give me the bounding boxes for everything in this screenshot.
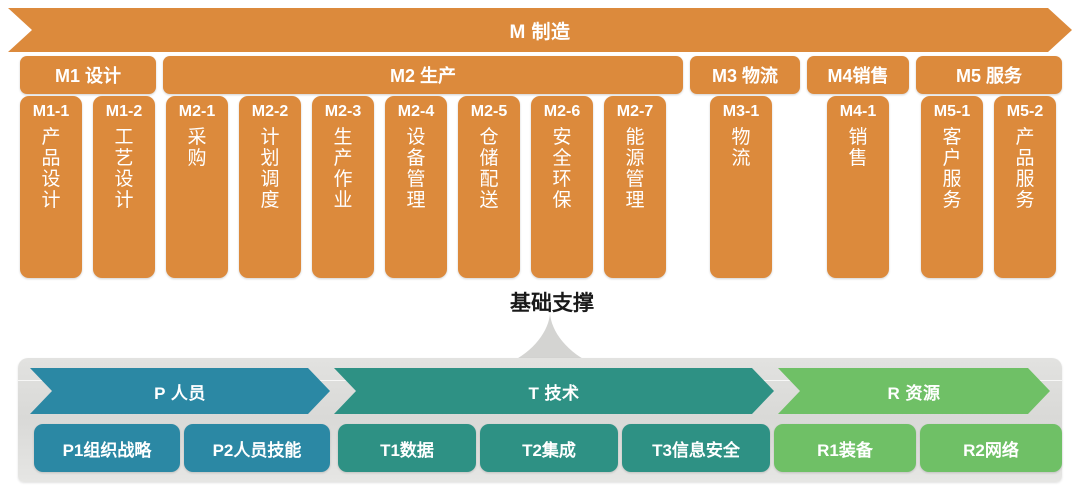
leaf-name: 设备管理 xyxy=(405,127,428,212)
support-leaf-label: P1组织战略 xyxy=(63,436,152,461)
group-header-label: M4销售 xyxy=(827,62,888,88)
group-header-m1[interactable]: M1 设计 xyxy=(20,56,156,94)
leaf-card-m2-7[interactable]: M2-7能源管理 xyxy=(604,96,666,278)
group-header-label: M1 设计 xyxy=(55,62,121,88)
leaf-card-m3-1[interactable]: M3-1物流 xyxy=(710,96,772,278)
leaf-code: M2-3 xyxy=(325,103,361,121)
leaf-name: 物流 xyxy=(730,127,753,170)
support-leaf-label: T1数据 xyxy=(380,436,434,461)
top-banner-label: M 制造 xyxy=(8,8,1072,52)
leaf-name: 计划调度 xyxy=(259,127,282,212)
leaf-name: 仓储配送 xyxy=(478,127,501,212)
leaf-name: 客户服务 xyxy=(941,127,964,212)
support-leaf-3[interactable]: T1数据 xyxy=(338,424,476,472)
leaf-name: 采购 xyxy=(186,127,209,170)
leaf-card-m1-1[interactable]: M1-1产品设计 xyxy=(20,96,82,278)
leaf-name: 销售 xyxy=(847,127,870,170)
group-header-label: M2 生产 xyxy=(390,62,456,88)
support-leaf-5[interactable]: T3信息安全 xyxy=(622,424,770,472)
support-leaf-label: T2集成 xyxy=(522,436,576,461)
leaf-card-m1-2[interactable]: M1-2工艺设计 xyxy=(93,96,155,278)
leaf-card-m2-5[interactable]: M2-5仓储配送 xyxy=(458,96,520,278)
support-band-p[interactable]: P 人员 xyxy=(30,368,330,414)
leaf-card-m2-6[interactable]: M2-6安全环保 xyxy=(531,96,593,278)
support-leaf-1[interactable]: P1组织战略 xyxy=(34,424,180,472)
leaf-card-m2-3[interactable]: M2-3生产作业 xyxy=(312,96,374,278)
support-leaf-label: P2人员技能 xyxy=(213,436,302,461)
leaf-code: M2-4 xyxy=(398,103,434,121)
support-band-label: P 人员 xyxy=(30,368,330,414)
leaf-code: M4-1 xyxy=(840,103,876,121)
group-header-label: M3 物流 xyxy=(712,62,778,88)
leaf-code: M1-2 xyxy=(106,103,142,121)
leaf-name: 安全环保 xyxy=(551,127,574,212)
leaf-name: 生产作业 xyxy=(332,127,355,212)
leaf-card-m5-2[interactable]: M5-2产品服务 xyxy=(994,96,1056,278)
leaf-card-m2-2[interactable]: M2-2计划调度 xyxy=(239,96,301,278)
leaf-code: M5-2 xyxy=(1007,103,1043,121)
support-leaf-label: T3信息安全 xyxy=(652,436,740,461)
leaf-code: M1-1 xyxy=(33,103,69,121)
top-banner-m: M 制造 xyxy=(8,8,1072,52)
support-leaf-label: R1装备 xyxy=(817,436,873,461)
leaf-code: M5-1 xyxy=(934,103,970,121)
leaf-code: M2-1 xyxy=(179,103,215,121)
support-leaf-2[interactable]: P2人员技能 xyxy=(184,424,330,472)
support-leaf-6[interactable]: R1装备 xyxy=(774,424,916,472)
group-header-m5[interactable]: M5 服务 xyxy=(916,56,1062,94)
group-header-m3[interactable]: M3 物流 xyxy=(690,56,800,94)
support-band-r[interactable]: R 资源 xyxy=(778,368,1050,414)
support-band-t[interactable]: T 技术 xyxy=(334,368,774,414)
support-leaf-7[interactable]: R2网络 xyxy=(920,424,1062,472)
group-header-m2[interactable]: M2 生产 xyxy=(163,56,683,94)
support-band-label: R 资源 xyxy=(778,368,1050,414)
leaf-code: M2-2 xyxy=(252,103,288,121)
leaf-name: 能源管理 xyxy=(624,127,647,212)
group-header-label: M5 服务 xyxy=(956,62,1022,88)
leaf-code: M2-5 xyxy=(471,103,507,121)
support-leaf-4[interactable]: T2集成 xyxy=(480,424,618,472)
support-leaf-label: R2网络 xyxy=(963,436,1019,461)
leaf-card-m2-1[interactable]: M2-1采购 xyxy=(166,96,228,278)
leaf-name: 产品设计 xyxy=(40,127,63,212)
leaf-code: M3-1 xyxy=(723,103,759,121)
diagram-canvas: M 制造 M1 设计M2 生产M3 物流M4销售M5 服务 M1-1产品设计M1… xyxy=(0,0,1080,490)
leaf-code: M2-7 xyxy=(617,103,653,121)
leaf-card-m2-4[interactable]: M2-4设备管理 xyxy=(385,96,447,278)
leaf-card-m5-1[interactable]: M5-1客户服务 xyxy=(921,96,983,278)
leaf-name: 工艺设计 xyxy=(113,127,136,212)
leaf-name: 产品服务 xyxy=(1014,127,1037,212)
leaf-card-m4-1[interactable]: M4-1销售 xyxy=(827,96,889,278)
leaf-code: M2-6 xyxy=(544,103,580,121)
group-header-m4[interactable]: M4销售 xyxy=(807,56,909,94)
support-band-label: T 技术 xyxy=(334,368,774,414)
